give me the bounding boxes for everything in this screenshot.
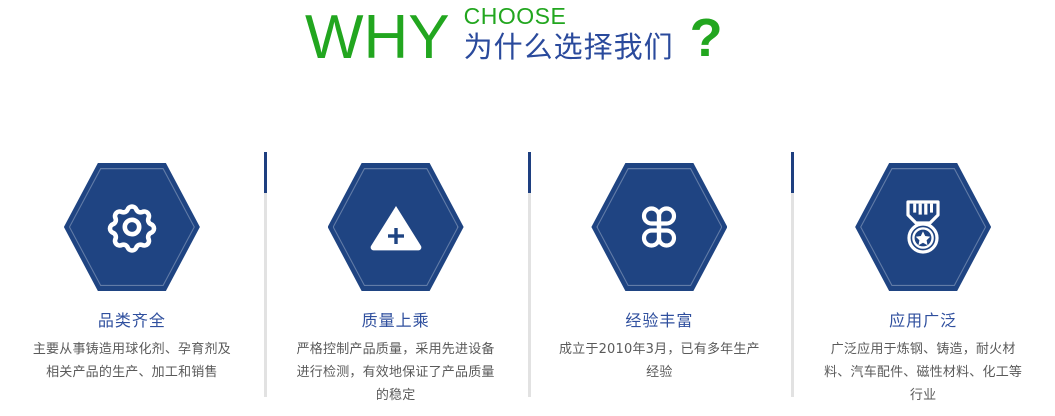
column-divider-1	[264, 152, 267, 397]
feature-title-4: 应用广泛	[889, 310, 957, 332]
hexagon-badge-4	[855, 163, 991, 291]
header-choose-word: CHOOSE	[464, 3, 674, 29]
header-subtitle-cn: 为什么选择我们	[464, 29, 674, 67]
gear-icon	[64, 163, 200, 291]
feature-desc-3: 成立于2010年3月，已有多年生产经验	[557, 338, 762, 384]
hexagon-badge-3	[591, 163, 727, 291]
header-text-stack: CHOOSE 为什么选择我们	[464, 0, 674, 67]
feature-title-3: 经验丰富	[625, 310, 693, 332]
header-title-group: WHY CHOOSE 为什么选择我们 ?	[305, 0, 723, 76]
section-header: WHY CHOOSE 为什么选择我们 ?	[0, 0, 1055, 96]
feature-column-3: 经验丰富 成立于2010年3月，已有多年生产经验	[528, 140, 792, 416]
column-divider-2	[528, 152, 531, 397]
feature-desc-1: 主要从事铸造用球化剂、孕育剂及相关产品的生产、加工和销售	[29, 338, 234, 384]
column-divider-3	[791, 152, 794, 397]
feature-column-2: 质量上乘 严格控制产品质量，采用先进设备进行检测，有效地保证了产品质量的稳定	[264, 140, 528, 416]
feature-title-1: 品类齐全	[98, 310, 166, 332]
hexagon-badge-2	[328, 163, 464, 291]
header-why-word: WHY	[305, 0, 450, 76]
feature-desc-2: 严格控制产品质量，采用先进设备进行检测，有效地保证了产品质量的稳定	[293, 338, 498, 407]
feature-columns: 品类齐全 主要从事铸造用球化剂、孕育剂及相关产品的生产、加工和销售 质量上乘 严…	[0, 140, 1055, 416]
medal-icon	[855, 163, 991, 291]
triangle-plus-icon	[328, 163, 464, 291]
feature-column-4: 应用广泛 广泛应用于炼钢、铸造，耐火材料、汽车配件、磁性材料、化工等行业	[791, 140, 1055, 416]
feature-desc-4: 广泛应用于炼钢、铸造，耐火材料、汽车配件、磁性材料、化工等行业	[821, 338, 1026, 407]
hexagon-badge-1	[64, 163, 200, 291]
feature-title-2: 质量上乘	[362, 310, 430, 332]
header-question-mark: ?	[690, 6, 723, 76]
clover-icon	[591, 163, 727, 291]
feature-column-1: 品类齐全 主要从事铸造用球化剂、孕育剂及相关产品的生产、加工和销售	[0, 140, 264, 416]
